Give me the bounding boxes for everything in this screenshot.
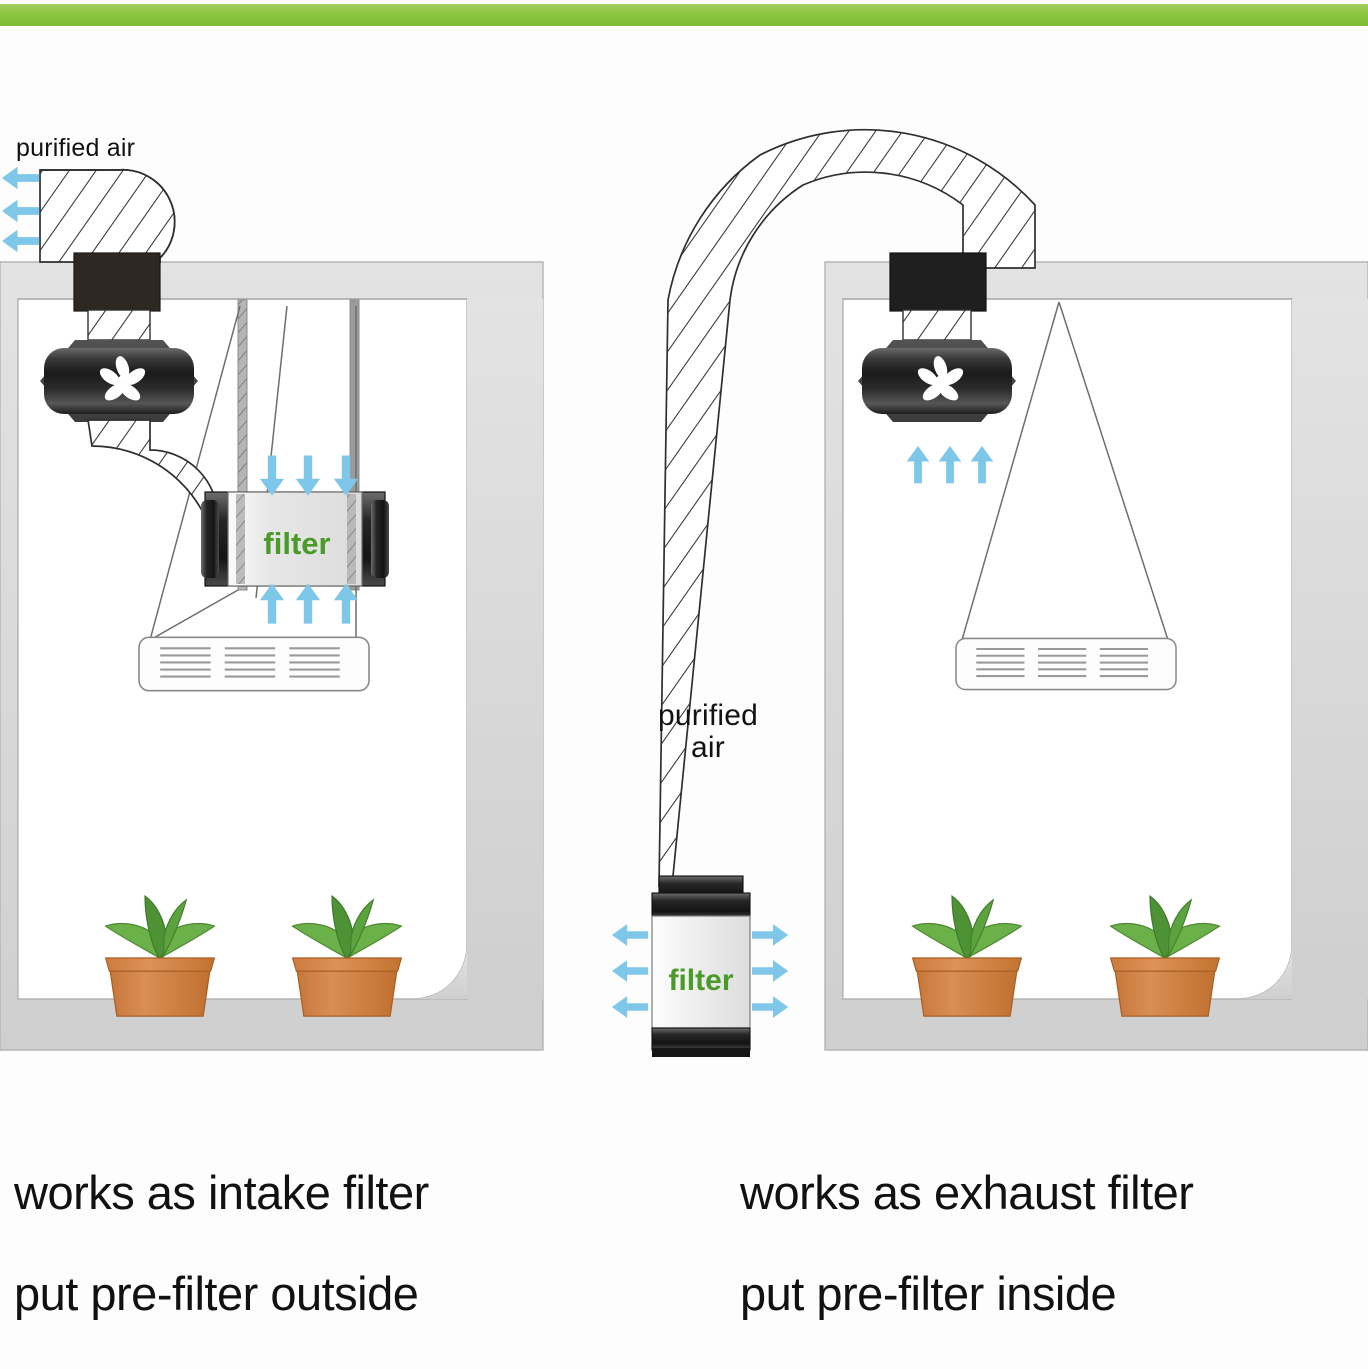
duct-outlet-left <box>40 170 175 262</box>
filter-box-left: filter <box>201 492 389 586</box>
airflow-arrows-fan-intake-right <box>907 446 994 483</box>
filter-box-right: filter <box>652 876 750 1057</box>
caption-left: works as intake filter put pre-filter ou… <box>14 1118 429 1369</box>
filter-label-right: filter <box>668 964 733 997</box>
inline-fan-left <box>40 340 198 422</box>
diagram-illustration: filter <box>0 0 1368 1242</box>
purified-air-label-right: purified air <box>648 700 768 763</box>
grow-light-right <box>956 638 1176 689</box>
duct-flange-right <box>890 253 986 311</box>
airflow-arrows-filter-right-right <box>752 924 788 1018</box>
diagram-stage: filter <box>0 0 1368 1242</box>
duct-segment-right <box>903 310 971 340</box>
airflow-arrows-filter-left-right <box>612 924 648 1018</box>
duct-flange-left <box>74 253 160 311</box>
caption-right-line1: works as exhaust filter <box>740 1168 1193 1218</box>
airflow-arrows-filter-bottom-left <box>260 583 358 623</box>
purified-air-label-left: purified air <box>16 134 135 163</box>
grow-light-left <box>139 637 369 690</box>
caption-right: works as exhaust filter put pre-filter i… <box>740 1118 1193 1369</box>
airflow-arrows-outlet-left <box>2 167 39 252</box>
left-panel-intake: filter <box>0 167 543 1050</box>
inline-fan-right <box>858 340 1016 422</box>
right-panel-exhaust: filter <box>612 130 1368 1057</box>
filter-label-left: filter <box>263 526 330 561</box>
caption-left-line1: works as intake filter <box>14 1168 429 1218</box>
airflow-arrows-filter-top-left <box>260 455 358 495</box>
caption-right-line2: put pre-filter inside <box>740 1269 1193 1319</box>
duct-segment-left <box>88 310 150 340</box>
caption-left-line2: put pre-filter outside <box>14 1269 429 1319</box>
